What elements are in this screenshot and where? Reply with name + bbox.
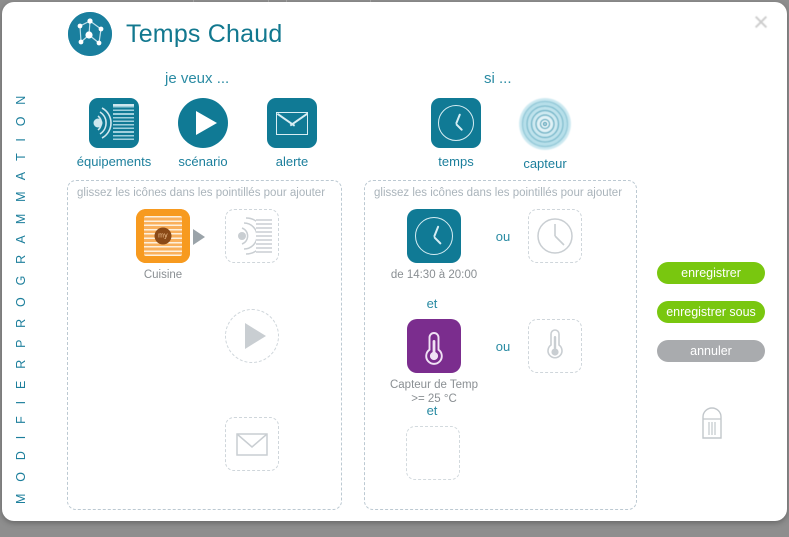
conditions-drop-panel[interactable]: glissez les icônes dans les pointillés p… [364,180,637,510]
empty-slot-time[interactable] [528,209,582,263]
palette-item-alerte[interactable]: alerte [246,98,338,169]
drop-hint-text: glissez les icônes dans les pointillés p… [374,187,622,199]
left-column-caption: je veux ... [165,70,229,87]
operator-ou-2: ou [473,339,533,354]
close-icon[interactable]: × [747,8,775,36]
palette-item-label: équipements [68,154,160,169]
page-title: Temps Chaud [126,20,282,49]
save-button[interactable]: enregistrer [657,262,765,284]
thermometer-glyph [416,328,452,366]
palette-item-label: alerte [246,154,338,169]
cancel-button[interactable]: annuler [657,340,765,362]
my-position-badge: my [155,228,172,245]
save-as-button[interactable]: enregistrer sous [657,301,765,323]
condition-card-time[interactable]: de 14:30 à 20:00 [379,209,489,282]
operator-et-1: et [402,296,462,311]
play-triangle-icon [196,111,217,135]
tahoma-node-logo-icon [68,12,112,56]
play-scenario-icon-ghost [226,310,278,362]
palette-item-equipements[interactable]: équipements [68,98,160,169]
shutter-device-icon-ghost [226,210,278,262]
play-scenario-icon [178,98,228,148]
trash-bin-icon[interactable] [699,402,725,442]
blind-stripes-icon [113,104,134,142]
palette-item-label: scénario [157,154,249,169]
clock-face-glyph [438,105,474,141]
envelope-alert-icon [267,98,317,148]
right-column-caption: si ... [484,70,512,87]
envelope-alert-icon-ghost [226,418,278,470]
action-card-label: Cuisine [108,268,218,282]
shutter-device-icon [89,98,139,148]
palette-item-temps[interactable]: temps [410,98,502,169]
clock-time-icon-ghost [529,210,581,262]
drop-hint-text: glissez les icônes dans les pointillés p… [77,187,325,199]
empty-slot-blank[interactable] [406,426,460,480]
sidebar-mode-label: M O D I F I E R P R O G R A M M A T I O … [14,174,36,504]
flow-arrow-icon [193,229,205,245]
operator-ou-1: ou [473,229,533,244]
radar-sensor-icon [519,98,571,150]
envelope-glyph [276,112,308,135]
condition-card-label: Capteur de Temp [379,378,489,392]
thermometer-sensor-icon [407,319,461,373]
palette-item-capteur[interactable]: capteur [499,98,591,171]
empty-slot-equipement[interactable] [225,209,279,263]
clock-time-icon [407,209,461,263]
operator-et-2: et [402,403,462,418]
empty-slot-alerte[interactable] [225,417,279,471]
thermometer-sensor-icon-ghost [529,320,581,372]
condition-card-label: de 14:30 à 20:00 [379,268,489,282]
palette-item-label: temps [410,154,502,169]
palette-item-label: capteur [499,156,591,171]
empty-slot-sensor[interactable] [528,319,582,373]
action-card-cuisine[interactable]: my Cuisine [108,209,218,282]
condition-card-temperature[interactable]: Capteur de Temp >= 25 °C [379,319,489,406]
dialog-header: Temps Chaud [68,12,282,56]
orange-shutter-device-icon: my [136,209,190,263]
clock-time-icon [431,98,481,148]
palette-item-scenario[interactable]: scénario [157,98,249,169]
clock-face-glyph [415,217,453,255]
edit-program-dialog: × [2,2,787,521]
empty-slot-scenario[interactable] [225,309,279,363]
actions-drop-panel[interactable]: glissez les icônes dans les pointillés p… [67,180,342,510]
